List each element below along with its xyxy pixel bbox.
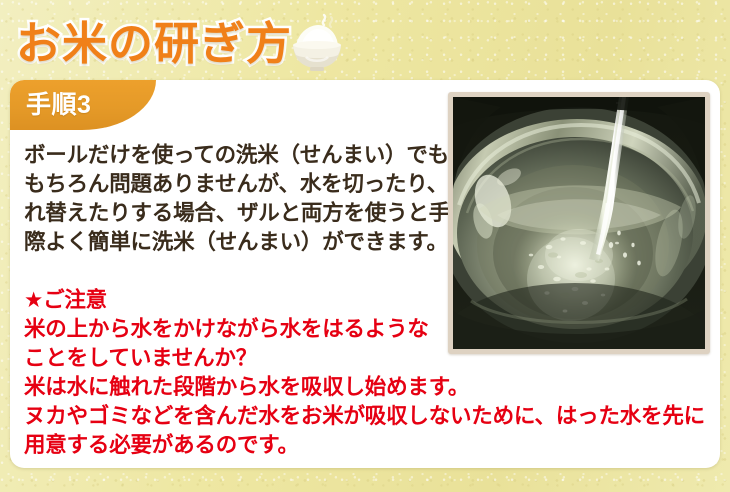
caution-paragraph: ★ご注意 米の上から水をかけながら水をはるような ことをしていませんか？ 米は水… [24,286,454,460]
page-title: お米の研ぎ方 [16,10,348,76]
description-paragraph: ボールだけを使っての洗米（せんまい）でも、 もちろん問題ありませんが、水を切った… [24,141,454,257]
step-label: 手順3 [26,93,91,118]
caution-heading: ★ご注意 [24,286,454,315]
description-line: もちろん問題ありませんが、水を切ったり、入 [24,170,454,199]
caution-line: 米の上から水をかけながら水をはるような [24,315,454,344]
step-banner: 手順3 [10,80,156,130]
caution-line: ヌカやゴミなどを含んだ水をお米が吸収しないために、はった水を先に [24,402,454,431]
photo-frame [448,92,710,354]
description-line: れ替えたりする場合、ザルと両方を使うと手 [24,199,454,228]
caution-line: 用意する必要があるのです。 [24,431,454,460]
caution-line: ことをしていませんか？ [24,344,454,373]
description-line: 際よく簡単に洗米（せんまい）ができます。 [24,228,454,257]
page-title-text: お米の研ぎ方 [16,21,292,66]
poster-root: お米の研ぎ方 手順3 [0,0,730,492]
caution-line: 米は水に触れた段階から水を吸収し始めます。 [24,373,454,402]
rice-bowl-icon [286,13,348,73]
instruction-text-block: ボールだけを使っての洗米（せんまい）でも、 もちろん問題ありませんが、水を切った… [24,141,454,460]
rice-washing-photo [453,97,705,349]
description-line: ボールだけを使っての洗米（せんまい）でも、 [24,141,454,170]
content-card: 手順3 ボールだけを使っての洗米（せんまい）でも、 もちろん問題ありませんが、水… [10,80,720,468]
